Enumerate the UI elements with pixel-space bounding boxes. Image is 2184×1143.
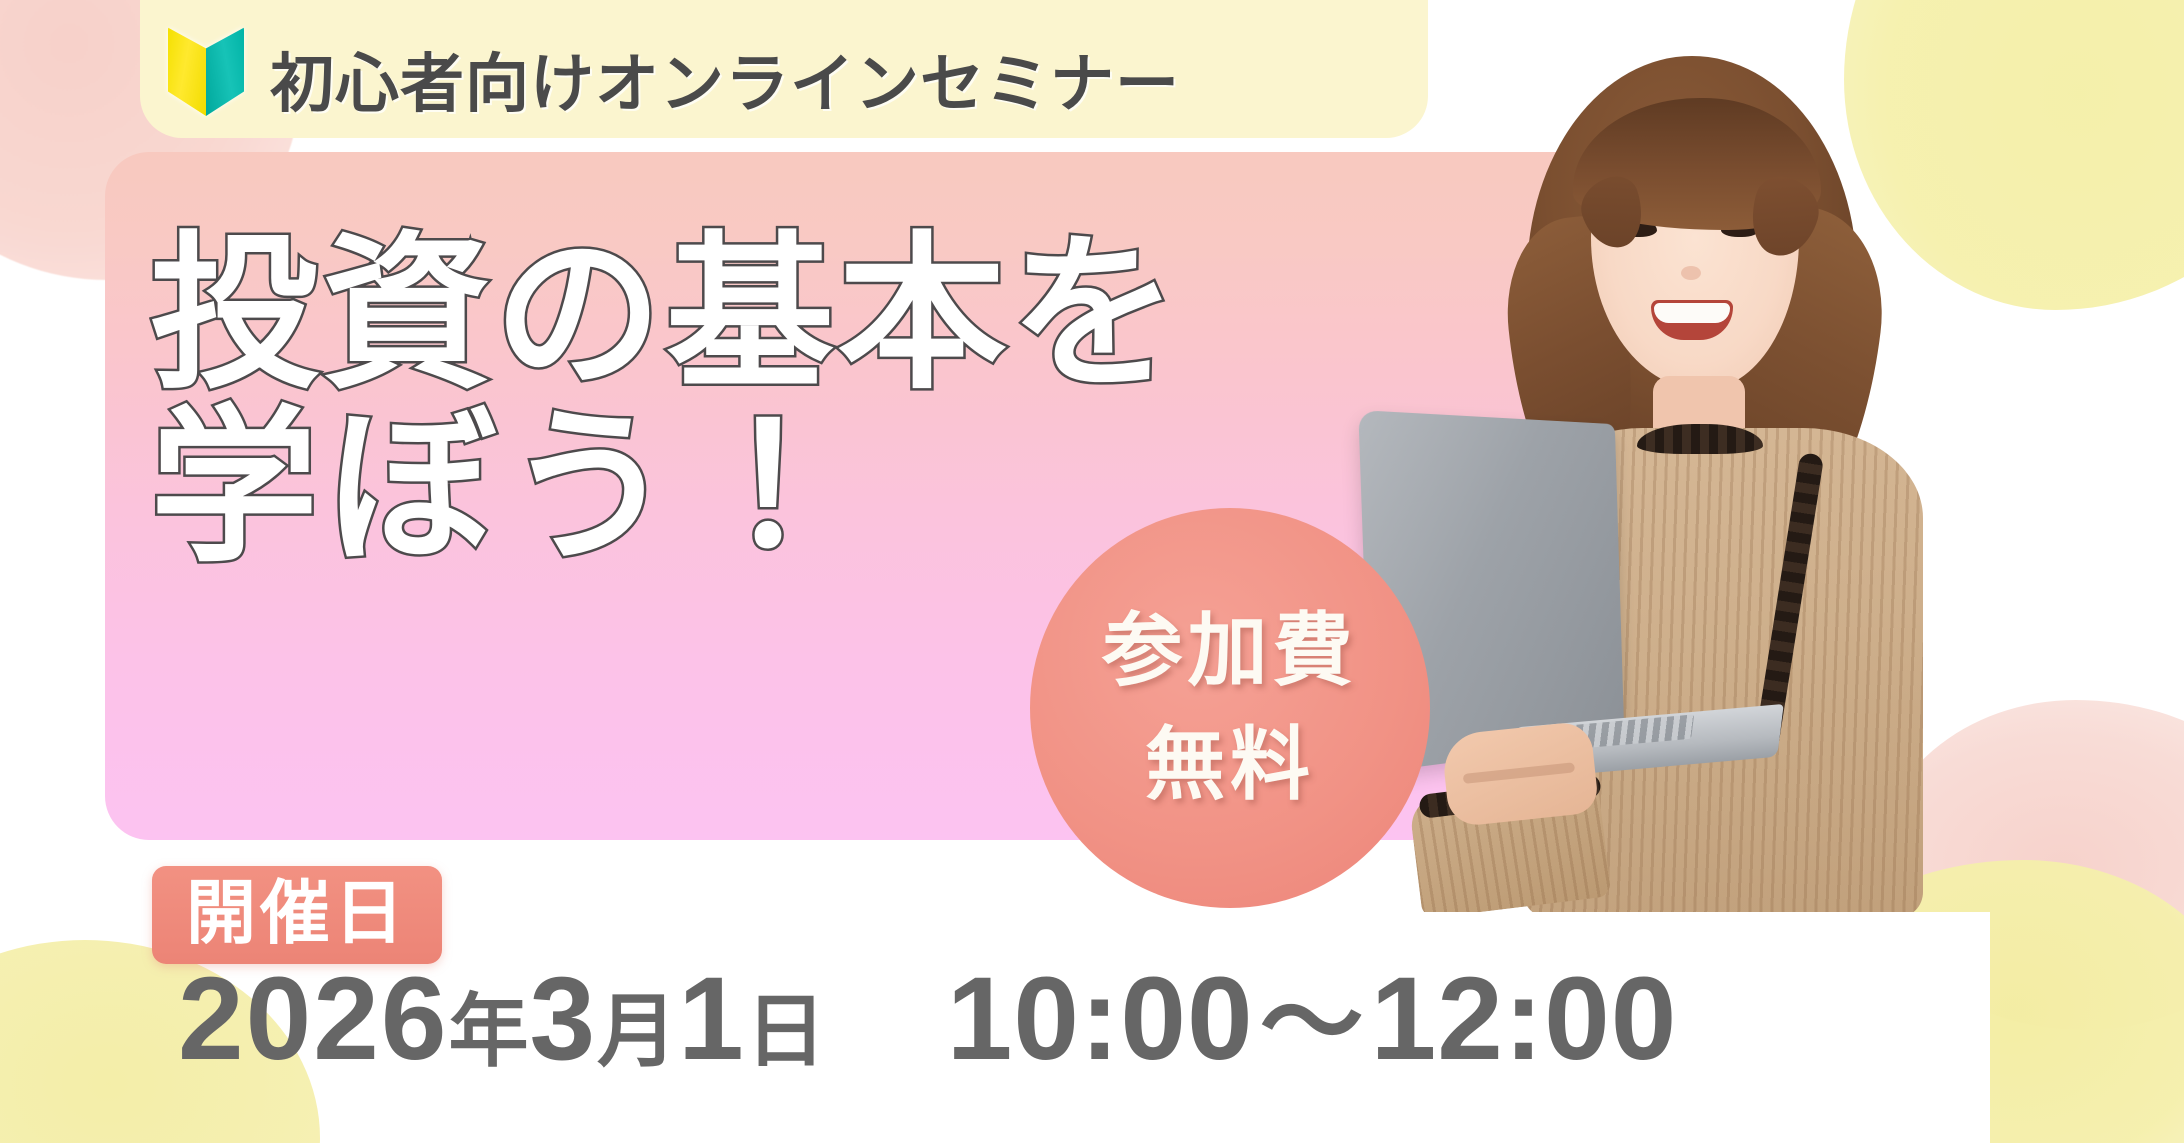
header-banner: 初心者向けオンラインセミナー	[140, 0, 1428, 138]
event-time-end: 12:00	[1371, 960, 1678, 1078]
teeth	[1654, 303, 1730, 323]
event-month-unit: 月	[597, 992, 678, 1072]
event-time: 10:00 〜 12:00	[947, 960, 1678, 1078]
hand-holding-laptop	[1441, 720, 1600, 827]
event-date: 2026 年 3 月 1 日	[178, 960, 827, 1078]
participation-fee-value: 無料	[1145, 725, 1315, 805]
event-year: 2026	[178, 960, 449, 1078]
event-month: 3	[530, 960, 598, 1078]
event-time-separator: 〜	[1254, 972, 1371, 1076]
headline-line-1: 投資の基本を	[150, 228, 1480, 401]
event-time-start: 10:00	[947, 960, 1254, 1078]
beginner-mark-yellow-half-icon	[168, 22, 206, 116]
participation-fee-badge: 参加費 無料	[1030, 508, 1430, 908]
beginner-mark-teal-half-icon	[206, 22, 244, 116]
event-day-unit: 日	[746, 992, 827, 1072]
event-day: 1	[678, 960, 746, 1078]
event-year-unit: 年	[449, 992, 530, 1072]
participation-fee-label: 参加費	[1103, 611, 1358, 691]
presenter-photo	[1405, 28, 1965, 908]
beginner-mark-icon	[168, 22, 244, 116]
seminar-banner: 初心者向けオンラインセミナー 投資の基本を 学ぼう！ 参加費 無料 開催日 20…	[0, 0, 2184, 1143]
event-date-badge: 開催日	[152, 866, 442, 964]
header-title: 初心者向けオンラインセミナー	[270, 52, 1180, 116]
event-datetime-row: 2026 年 3 月 1 日 10:00 〜 12:00	[178, 960, 1677, 1078]
nose	[1681, 266, 1701, 280]
